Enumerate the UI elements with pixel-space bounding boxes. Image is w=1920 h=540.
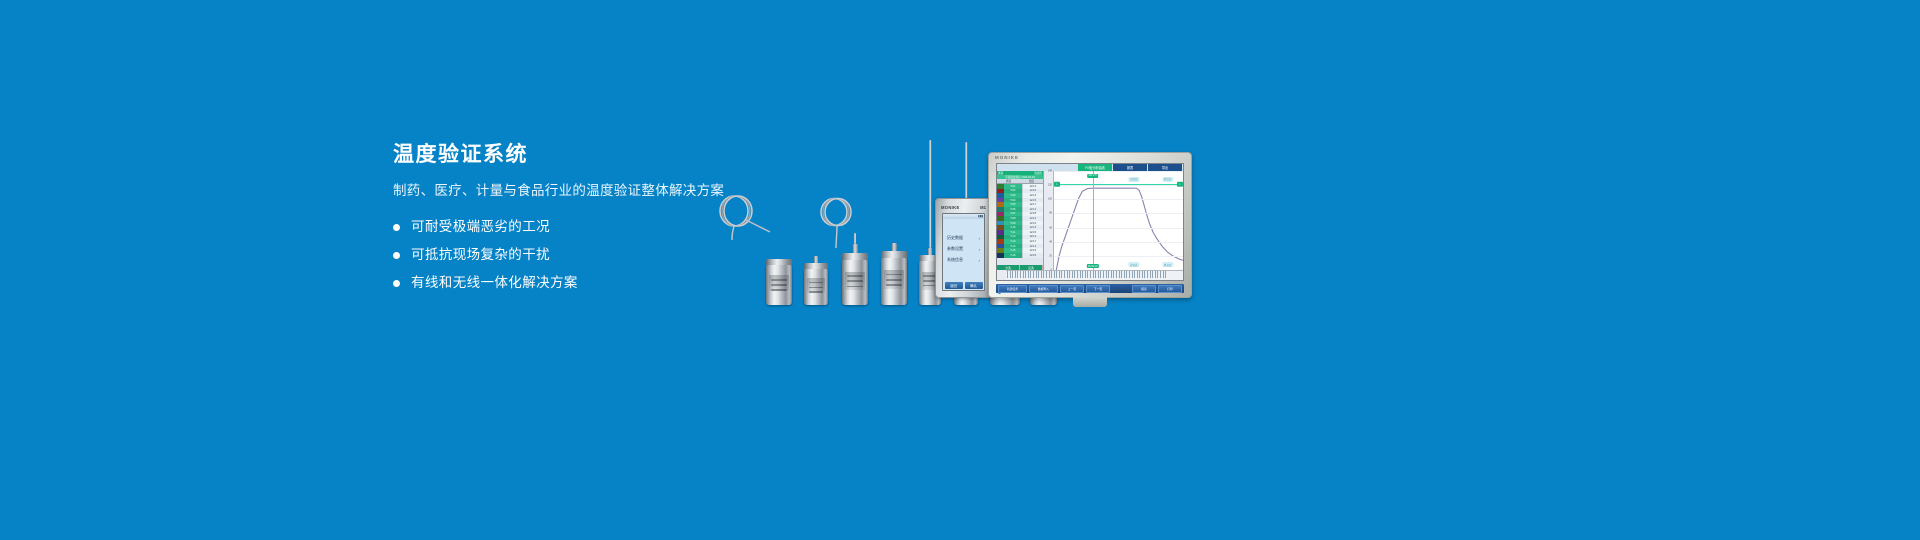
handheld-brand-label: MONIKE — [941, 205, 960, 210]
flexible-coil-probe-icon — [810, 198, 890, 248]
bullet-dot-icon — [393, 224, 400, 231]
long-needle-probe-icon — [929, 140, 931, 248]
bullet-dot-icon — [393, 280, 400, 287]
logger-2 — [804, 263, 828, 305]
column-header-channel: 通道 — [997, 179, 1020, 183]
chart-x-ticks — [1006, 271, 1183, 280]
handheld-back-button[interactable]: 返回 — [945, 282, 963, 289]
chart-annotation-badge: 保温段 — [1128, 177, 1139, 182]
chart-limit-line — [1054, 184, 1183, 185]
toolbar-report-button[interactable]: 报表 — [1132, 285, 1156, 293]
logger-1 — [766, 259, 792, 305]
monitor-stand — [1073, 297, 1107, 307]
handheld-menu-item-settings[interactable]: 参数设置 › — [947, 246, 980, 252]
menu-item-label: 系统信息 — [947, 257, 963, 263]
y-axis-tick-label: 80 — [1049, 212, 1052, 215]
handheld-model-label: M1 — [980, 205, 986, 210]
channel-color-swatch — [997, 253, 1004, 258]
handheld-menu-item-sysinfo[interactable]: 系统信息 › — [947, 257, 980, 263]
chart-annotation-badge: 降温段 — [1162, 177, 1173, 182]
tab-f0-curve[interactable]: F0值分析曲线 — [1078, 164, 1112, 171]
tab-export[interactable]: 导出 — [1148, 164, 1182, 171]
cursor-value-badge[interactable]: 121.4℃ — [1087, 174, 1099, 178]
column-header-temp: 温度 — [1020, 179, 1043, 183]
software-toolbar: 新建任务 数据导入 上一页 下一页 报表 打印 — [996, 284, 1184, 293]
chart-x-scrollbar[interactable] — [1006, 270, 1183, 280]
chart-gridline — [1054, 242, 1183, 243]
button-label: 返回 — [950, 283, 957, 288]
chart-annotation-badge: 保温段 — [1128, 262, 1139, 267]
handheld-confirm-button[interactable]: 确认 — [965, 282, 983, 289]
software-tab-bar: F0值分析曲线 报表 导出 — [997, 164, 1183, 171]
chart-gridline — [1054, 171, 1183, 172]
handheld-menu-item-history[interactable]: 历史数据 › — [947, 235, 980, 241]
chevron-right-icon: › — [979, 236, 980, 241]
logger-3 — [842, 253, 868, 305]
feature-bullet-label: 可耐受极端恶劣的工况 — [411, 218, 550, 236]
button-label: 确认 — [970, 283, 977, 288]
limit-badge-right[interactable]: L — [1177, 182, 1183, 187]
software-screen: F0值分析曲线 报表 导出 通道 温度值 灭菌温度验证 2024-06-18 通… — [996, 163, 1184, 281]
y-axis-tick-label: 140 — [1048, 170, 1052, 173]
cursor-time-badge[interactable]: 00:42:10 — [1087, 264, 1099, 268]
chart-gridline — [1054, 228, 1183, 229]
chevron-right-icon: › — [979, 247, 980, 252]
menu-item-label: 历史数据 — [947, 235, 963, 241]
limit-badge-left[interactable]: L — [1054, 182, 1060, 187]
handheld-reader-device[interactable]: MONIKE M1 ▮▮▮ 历史数据 › 参数设置 › 系统信息 › — [935, 198, 992, 298]
feature-bullet-label: 可抵抗现场复杂的干扰 — [411, 246, 550, 264]
menu-item-label: 参数设置 — [947, 246, 963, 252]
table-rows: T-01121.4T-02121.6T-03121.3T-04121.5T-05… — [997, 184, 1043, 265]
chart-gridline — [1054, 199, 1183, 200]
channel-value-cell: 121.5 — [1022, 253, 1043, 258]
banner-root: 温度验证系统 制药、医疗、计量与食品行业的温度验证整体解决方案 可耐受极端恶劣的… — [0, 0, 1920, 540]
handheld-menu-list: 历史数据 › 参数设置 › 系统信息 › — [943, 219, 984, 281]
chart-annotation-badge: 降温段 — [1162, 262, 1173, 267]
toolbar-next-page-button[interactable]: 下一页 — [1086, 285, 1110, 293]
chevron-right-icon: › — [979, 258, 980, 263]
bullet-dot-icon — [393, 252, 400, 259]
handheld-brand-row: MONIKE M1 — [941, 204, 986, 211]
monitor-brand-label: MONIKE — [995, 155, 1019, 160]
software-body: 通道 温度值 灭菌温度验证 2024-06-18 通道 温度 T-01121.4… — [997, 171, 1183, 270]
flexible-coil-probe-icon — [710, 194, 820, 240]
chart-gridline — [1054, 256, 1183, 257]
channel-data-table: 通道 温度值 灭菌温度验证 2024-06-18 通道 温度 T-01121.4… — [997, 171, 1044, 270]
chart-plot-area[interactable]: LL121.4℃00:42:10保温段降温段保温段降温段 — [1054, 171, 1183, 270]
toolbar-prev-page-button[interactable]: 上一页 — [1060, 285, 1084, 293]
y-axis-tick-label: 40 — [1049, 240, 1052, 243]
logger-4 — [881, 251, 907, 305]
lcd-monitor: MONIKE F0值分析曲线 报表 导出 通道 温度值 灭菌温度验证 2024-… — [988, 152, 1192, 298]
y-axis-tick-label: 20 — [1049, 254, 1052, 257]
tab-report[interactable]: 报表 — [1113, 164, 1147, 171]
table-row[interactable]: T-16121.5 — [997, 253, 1043, 258]
channel-name-cell: T-16 — [1004, 253, 1022, 258]
y-axis-tick-label: 60 — [1049, 226, 1052, 229]
y-axis-tick-label: 100 — [1048, 198, 1052, 201]
toolbar-print-button[interactable]: 打印 — [1158, 285, 1182, 293]
toolbar-new-task-button[interactable]: 新建任务 — [998, 285, 1027, 293]
chart-y-axis: 020406080100120140 — [1044, 171, 1054, 270]
chart-cursor-line[interactable] — [1093, 171, 1094, 270]
y-axis-tick-label: 120 — [1048, 184, 1052, 187]
chart-gridline — [1054, 213, 1183, 214]
chart-panel: 020406080100120140 LL121.4℃00:42:10保温段降温… — [1044, 171, 1183, 270]
handheld-button-bar: 返回 确认 — [943, 280, 984, 290]
toolbar-import-button[interactable]: 数据导入 — [1029, 285, 1058, 293]
feature-bullet-label: 有线和无线一体化解决方案 — [411, 274, 578, 292]
chart-series-line — [1054, 188, 1183, 270]
handheld-screen: ▮▮▮ 历史数据 › 参数设置 › 系统信息 › 返回 — [942, 213, 985, 291]
